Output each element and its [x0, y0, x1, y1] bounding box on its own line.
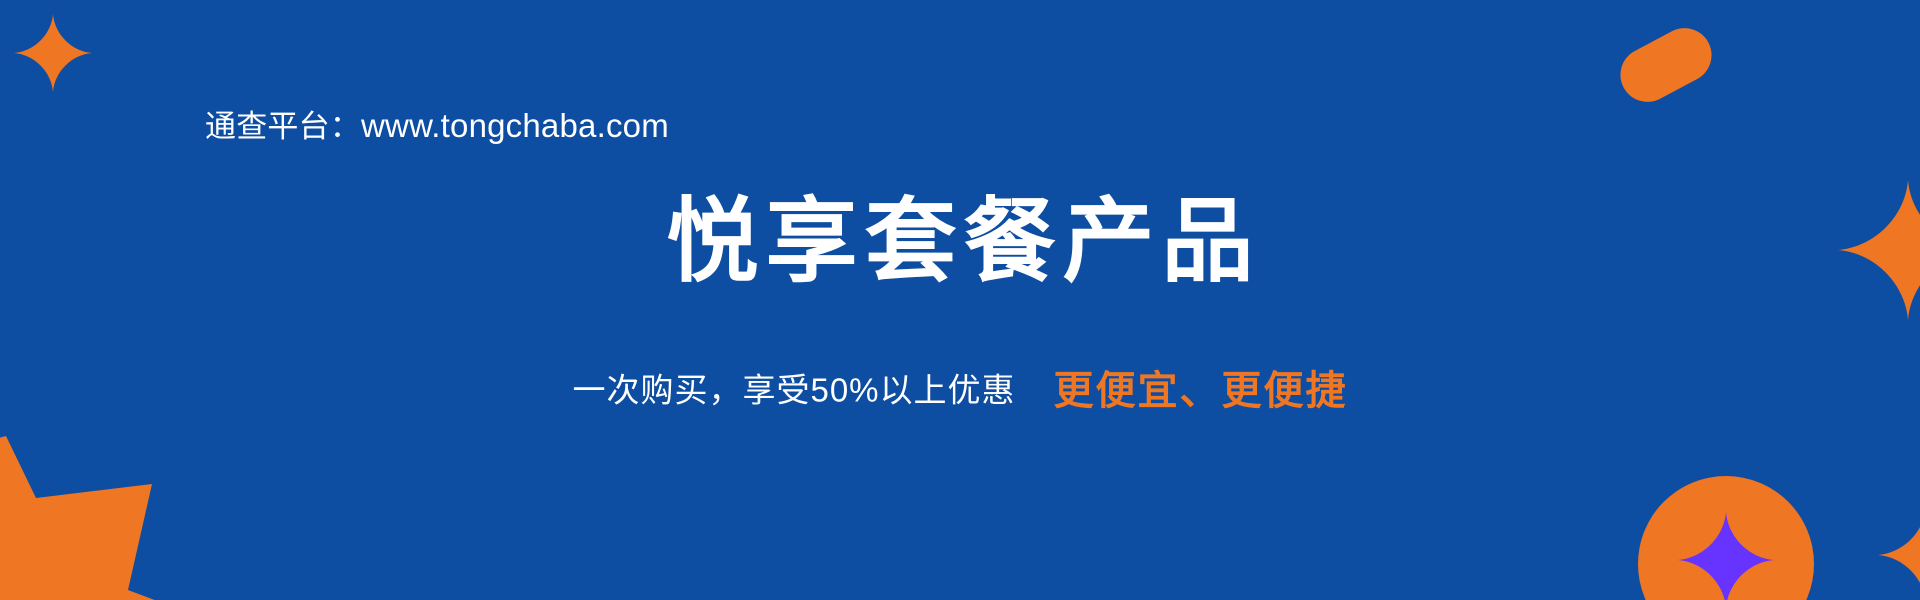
site-line: 通查平台：www.tongchaba.com [205, 108, 669, 144]
star-burst-bottom-left [0, 436, 240, 600]
sparkle-icon-top-left [14, 12, 92, 94]
page-title: 悦享套餐产品 [0, 190, 1920, 296]
sparkle-icon-bottom-corner [1878, 505, 1920, 600]
subtitle-accent: 更便宜、更便捷 [1054, 369, 1348, 413]
subtitle-plain: 一次购买，享受50%以上优惠 [572, 372, 1015, 409]
site-url: www.tongchaba.com [361, 107, 669, 144]
subtitle-line: 一次购买，享受50%以上优惠更便宜、更便捷 [0, 365, 1920, 417]
site-label: 通查平台： [205, 109, 361, 144]
sparkle-icon-purple [1678, 508, 1774, 600]
promo-banner: 通查平台：www.tongchaba.com 悦享套餐产品 一次购买，享受50%… [0, 0, 1920, 600]
